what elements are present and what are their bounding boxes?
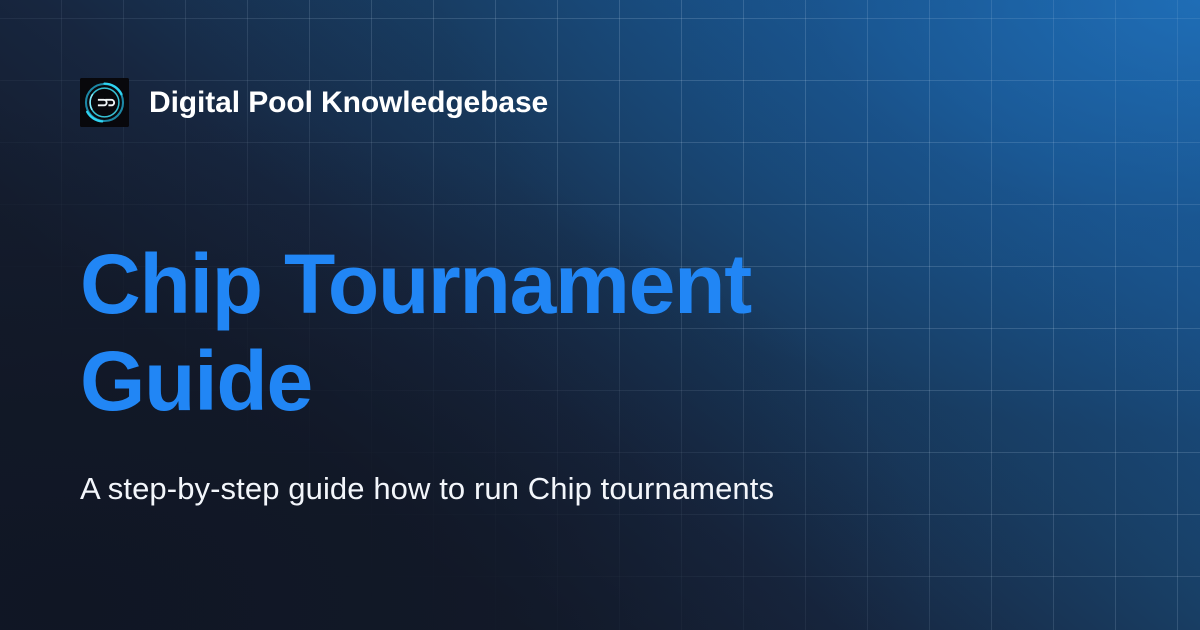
page-title: Chip Tournament Guide [80, 236, 910, 430]
page-subtitle: A step-by-step guide how to run Chip tou… [80, 468, 780, 509]
digital-pool-dp-monogram-icon [80, 78, 129, 127]
brand-lockup: Digital Pool Knowledgebase [80, 78, 548, 127]
card-content: Digital Pool Knowledgebase Chip Tourname… [0, 0, 1200, 630]
og-share-card: Digital Pool Knowledgebase Chip Tourname… [0, 0, 1200, 630]
brand-name-label: Digital Pool Knowledgebase [149, 88, 548, 118]
